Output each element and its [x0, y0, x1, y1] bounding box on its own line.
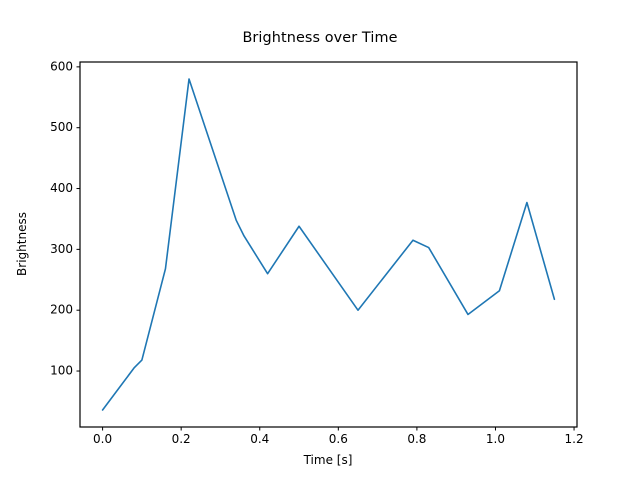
y-tick-label: 200: [50, 303, 73, 317]
y-tick-label: 100: [50, 364, 73, 378]
axes-spines: [80, 62, 577, 427]
x-axis-label: Time [s]: [303, 453, 353, 467]
data-series-brightness: [103, 79, 555, 410]
y-axis-label: Brightness: [15, 212, 29, 276]
y-tick-label: 300: [50, 242, 73, 256]
x-tick-label: 0.8: [407, 432, 426, 446]
x-tick-label: 1.2: [565, 432, 584, 446]
x-tick-label: 0.0: [93, 432, 112, 446]
figure-canvas: Brightness over Time 0.00.20.40.60.81.01…: [0, 0, 640, 480]
y-axis-ticks: 100200300400500600: [50, 59, 80, 377]
x-axis-ticks: 0.00.20.40.60.81.01.2: [93, 427, 584, 446]
x-tick-label: 0.4: [250, 432, 269, 446]
plot-area: 0.00.20.40.60.81.01.2 100200300400500600…: [0, 0, 640, 480]
x-tick-label: 0.6: [329, 432, 348, 446]
y-tick-label: 500: [50, 120, 73, 134]
y-tick-label: 600: [50, 59, 73, 73]
x-tick-label: 1.0: [486, 432, 505, 446]
y-tick-label: 400: [50, 181, 73, 195]
x-tick-label: 0.2: [172, 432, 191, 446]
